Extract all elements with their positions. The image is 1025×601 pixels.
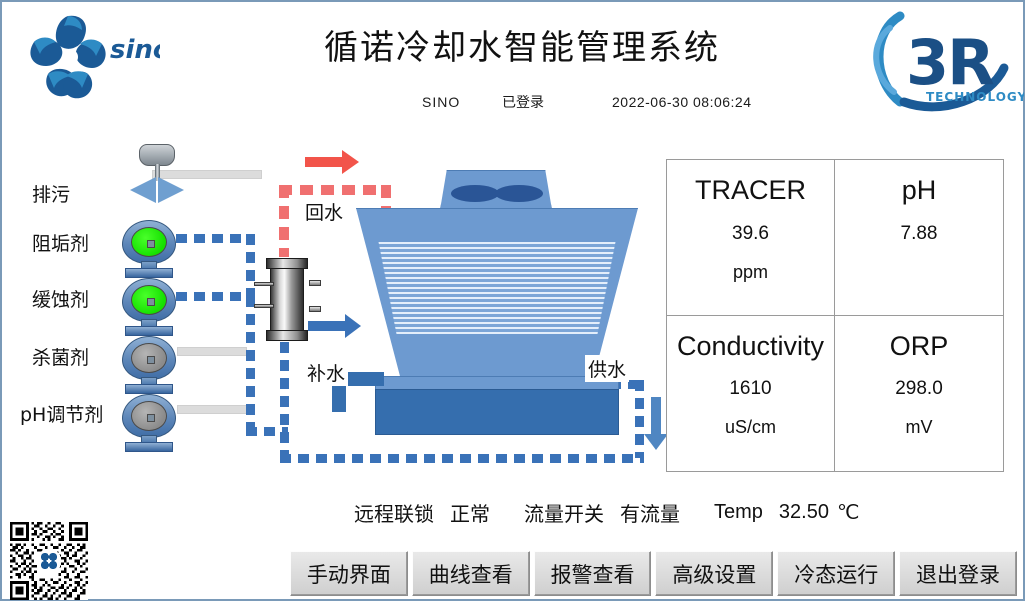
pipe-ph-line xyxy=(177,405,247,414)
label-scale-inhibitor: 阻垢剂 xyxy=(32,229,89,256)
arrow-return-flow xyxy=(305,157,343,167)
tower-fan-housing xyxy=(440,170,552,210)
dashed-loop-down xyxy=(280,342,289,462)
fan-blade-left xyxy=(451,185,499,202)
measurement-card-ph[interactable]: pH 7.88 xyxy=(835,160,1003,316)
measurement-unit: uS/cm xyxy=(725,417,776,438)
alarm-view-button[interactable]: 报警查看 xyxy=(534,551,652,596)
measurement-name: TRACER xyxy=(695,176,806,206)
tower-basin-rim xyxy=(375,376,619,390)
measurement-name: ORP xyxy=(890,332,949,362)
dashed-riser-chemical xyxy=(246,234,255,296)
label-remote-interlock: 远程联锁 xyxy=(354,498,434,527)
analyzer-vessel-icon[interactable] xyxy=(264,254,312,346)
header-status-bar: SINO 已登录 2022-06-30 08:06:24 xyxy=(422,92,942,112)
label-corrosion-inhibitor: 缓蚀剂 xyxy=(32,285,89,312)
page-title: 循诺冷却水智能管理系统 xyxy=(262,20,782,69)
arrow-makeup-flow xyxy=(308,321,346,331)
label-supply-water: 供水 xyxy=(585,355,629,382)
logout-button[interactable]: 退出登录 xyxy=(899,551,1017,596)
value-remote-interlock: 正常 xyxy=(450,498,490,527)
login-state: 已登录 xyxy=(502,92,612,112)
dashed-loop-bottom xyxy=(280,454,644,463)
curve-view-button[interactable]: 曲线查看 xyxy=(412,551,530,596)
advanced-settings-button[interactable]: 高级设置 xyxy=(655,551,773,596)
blowdown-valve-icon[interactable] xyxy=(122,144,192,200)
measurement-unit: ppm xyxy=(733,262,768,283)
label-temperature: Temp xyxy=(714,501,763,524)
qr-code xyxy=(10,522,88,600)
fan-blade-right xyxy=(495,185,543,202)
measurement-card-conductivity[interactable]: Conductivity 1610 uS/cm xyxy=(667,316,835,472)
measurement-grid: TRACER 39.6 ppm pH 7.88 Conductivity 161… xyxy=(666,159,1004,472)
pipe-biocide-line xyxy=(177,347,247,356)
cold-start-run-button[interactable]: 冷态运行 xyxy=(777,551,895,596)
sino-logo: sino xyxy=(10,8,160,104)
measurement-value: 298.0 xyxy=(895,378,943,400)
label-biocide: 杀菌剂 xyxy=(32,343,89,370)
manual-interface-button[interactable]: 手动界面 xyxy=(290,551,408,596)
current-user: SINO xyxy=(422,94,502,110)
label-ph-adjuster: pH调节剂 xyxy=(20,400,103,427)
dashed-line-corrosion-feed xyxy=(176,292,252,301)
unit-temperature: ℃ xyxy=(837,500,859,525)
value-flow-switch: 有流量 xyxy=(620,498,680,527)
label-blowdown: 排污 xyxy=(32,180,70,207)
svg-text:3R: 3R xyxy=(906,26,994,99)
label-flow-switch: 流量开关 xyxy=(524,498,604,527)
cooling-tower xyxy=(347,170,647,420)
measurement-name: Conductivity xyxy=(677,332,824,362)
datetime: 2022-06-30 08:06:24 xyxy=(612,94,942,110)
hmi-screen: sino 3R TECHNOLOGY 循诺冷却水智能管理系统 SINO 已登录 … xyxy=(0,0,1025,601)
dashed-line-scale-feed xyxy=(176,234,252,243)
pump-scale-inhibitor[interactable] xyxy=(120,220,178,278)
measurement-value: 39.6 xyxy=(732,223,769,245)
status-row: 远程联锁 正常 流量开关 有流量 Temp 32.50 ℃ xyxy=(354,497,1014,527)
measurement-card-tracer[interactable]: TRACER 39.6 ppm xyxy=(667,160,835,316)
pump-corrosion-inhibitor[interactable] xyxy=(120,278,178,336)
measurement-card-orp[interactable]: ORP 298.0 mV xyxy=(835,316,1003,472)
dashed-return-left xyxy=(279,185,289,257)
measurement-name: pH xyxy=(902,176,937,206)
pump-ph-adjuster[interactable] xyxy=(120,394,178,452)
arrow-supply-flow xyxy=(651,397,661,435)
measurement-unit: mV xyxy=(906,417,933,438)
value-temperature: 32.50 xyxy=(779,501,829,524)
pump-biocide[interactable] xyxy=(120,336,178,394)
measurement-value: 1610 xyxy=(729,378,771,400)
measurement-value: 7.88 xyxy=(901,223,938,245)
label-return-water: 回水 xyxy=(302,198,346,225)
dashed-loop-left-riser xyxy=(246,296,255,436)
tower-basin xyxy=(375,389,619,435)
svg-text:sino: sino xyxy=(110,35,160,65)
label-makeup-water: 补水 xyxy=(304,359,348,386)
button-bar: 手动界面 曲线查看 报警查看 高级设置 冷态运行 退出登录 xyxy=(290,551,1017,596)
